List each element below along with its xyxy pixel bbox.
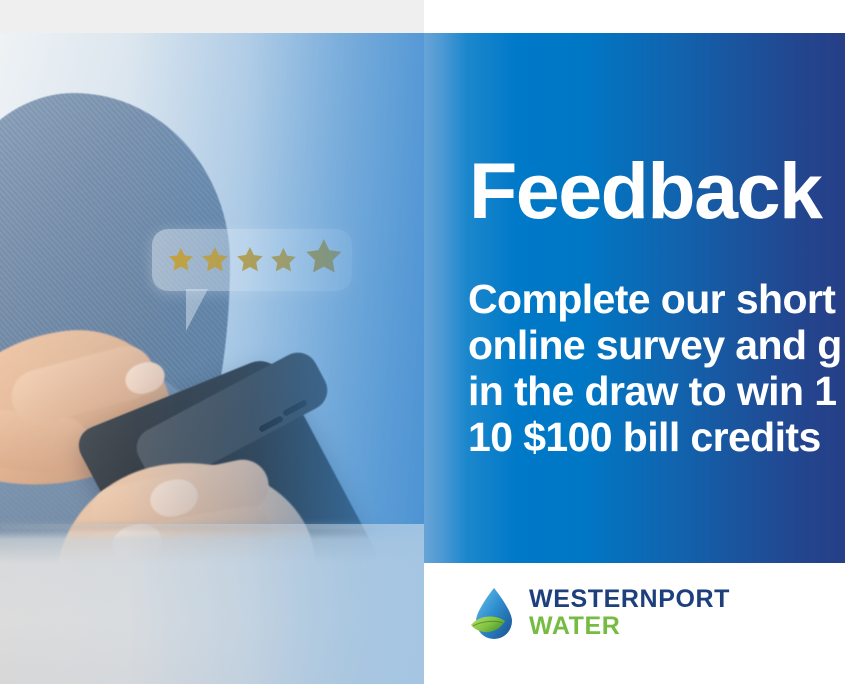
rating-bubble-tail (186, 289, 208, 331)
footer: WESTERNPORT WATER (424, 563, 845, 684)
body-copy: Complete our short online survey and g i… (468, 276, 842, 460)
westernport-water-logo[interactable]: WESTERNPORT WATER (469, 585, 730, 641)
star-rating (160, 236, 346, 284)
logo-secondary-text: WATER (529, 614, 730, 639)
star-icon (234, 244, 266, 276)
headline: Feedback ( (469, 151, 845, 230)
body-line-3: in the draw to win 1 (468, 368, 842, 414)
water-droplet-leaf-icon (469, 585, 519, 641)
feedback-promo-banner: Feedback ( Complete our short online sur… (0, 0, 845, 684)
star-icon (268, 245, 299, 276)
body-line-4: 10 $100 bill credits (468, 414, 842, 460)
logo-primary-text: WESTERNPORT (529, 587, 730, 612)
star-icon (199, 244, 231, 276)
message-panel: Feedback ( Complete our short online sur… (424, 33, 845, 563)
desk-surface (0, 530, 424, 684)
hero-photo (0, 33, 424, 684)
body-line-1: Complete our short (468, 276, 842, 322)
desk-edge (0, 520, 424, 530)
star-icon-highlight (302, 235, 346, 279)
top-grey-band (0, 0, 424, 33)
body-line-2: online survey and g (468, 322, 842, 368)
logo-wordmark: WESTERNPORT WATER (529, 587, 730, 639)
star-icon (166, 245, 196, 275)
